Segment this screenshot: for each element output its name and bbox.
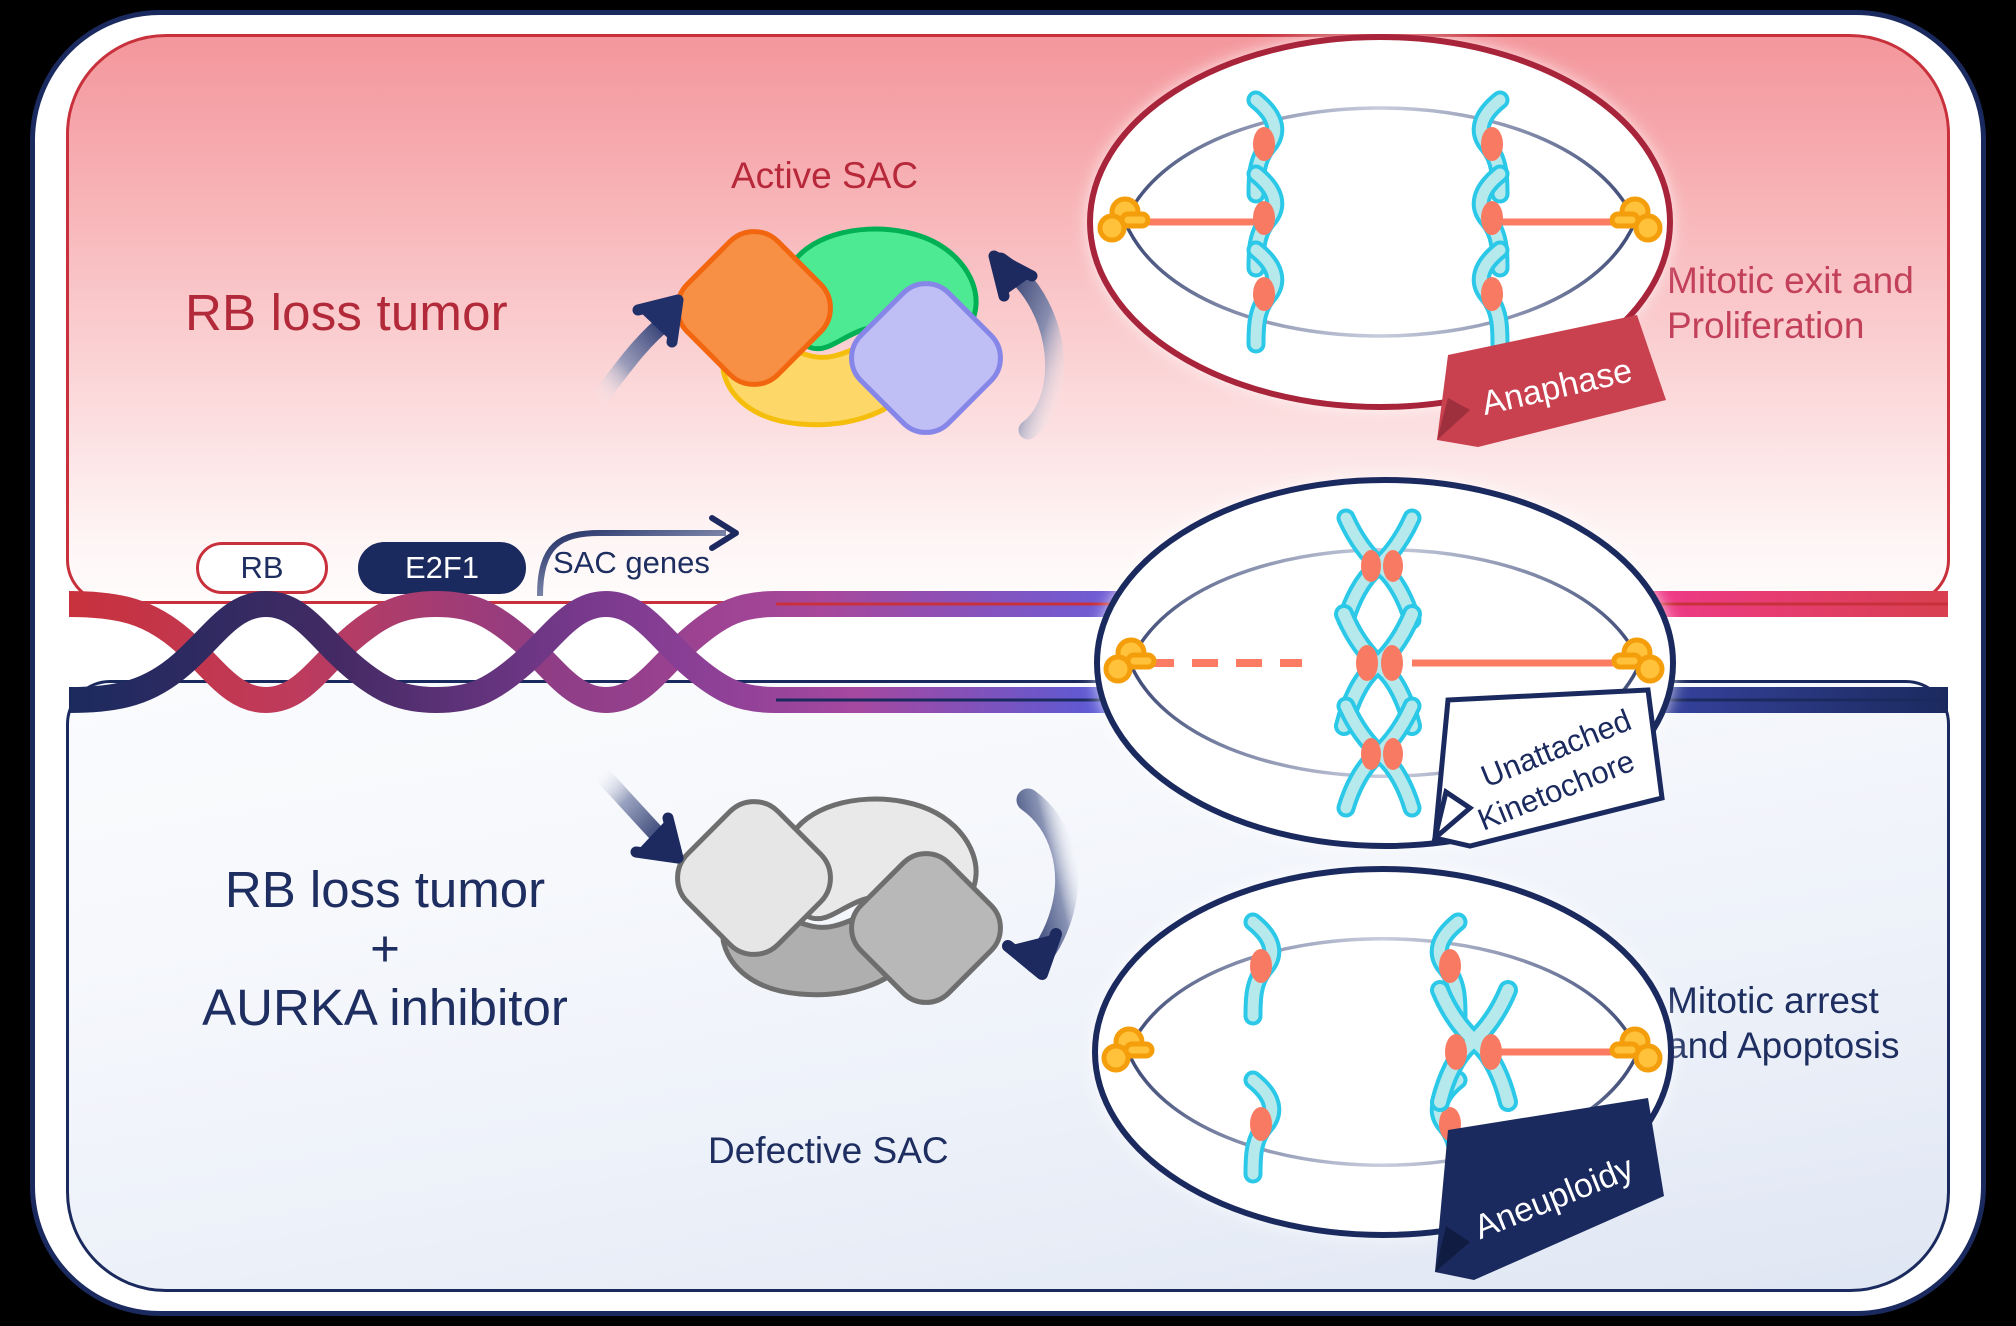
defective-sac-label: Defective SAC xyxy=(708,1130,949,1172)
gene-pill-e2f1: E2F1 xyxy=(358,542,526,594)
top-panel-title: RB loss tumor xyxy=(185,283,508,342)
figure-canvas: RB loss tumor Active SAC Mitotic exit an… xyxy=(0,0,2016,1326)
top-panel-outcome-label: Mitotic exit and Proliferation xyxy=(1667,258,1914,348)
gene-pill-rb: RB xyxy=(196,542,328,594)
bottom-panel-title: RB loss tumor + AURKA inhibitor xyxy=(185,860,585,1037)
active-sac-label: Active SAC xyxy=(731,155,918,197)
sac-genes-label: SAC genes xyxy=(553,545,710,581)
bottom-panel-outcome-label: Mitotic arrest and Apoptosis xyxy=(1667,978,1899,1068)
